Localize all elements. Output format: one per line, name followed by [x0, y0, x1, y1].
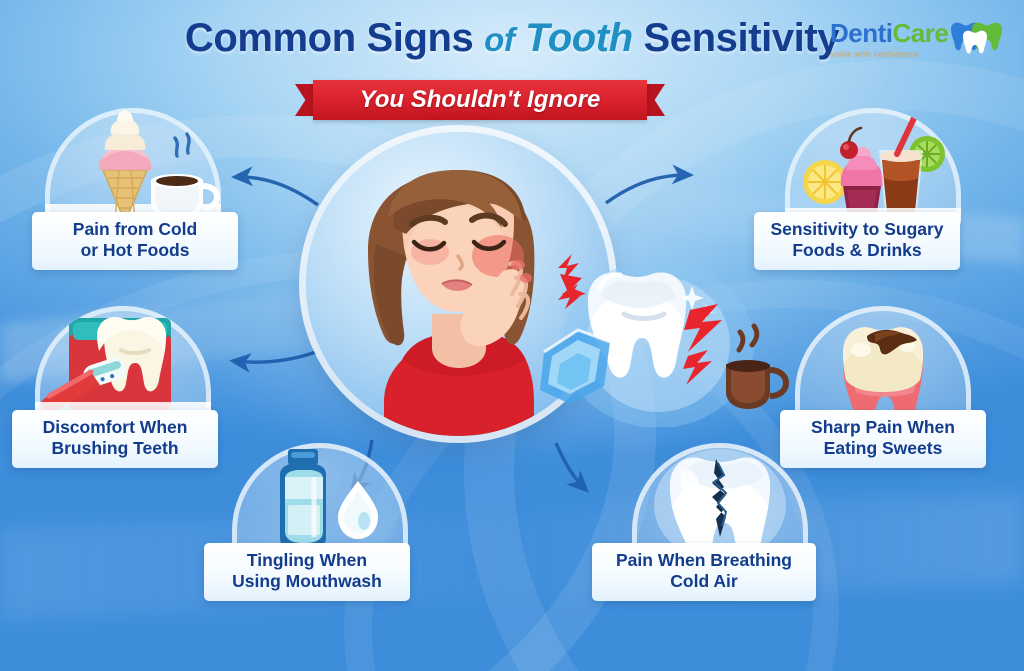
- logo-tagline: smile with confidence: [830, 50, 1006, 59]
- ribbon-label: You Shouldn't Ignore: [295, 80, 665, 120]
- title-part-2: of: [484, 21, 514, 58]
- brand-logo[interactable]: DentiCare smile with confidence: [830, 18, 1006, 70]
- arrow-to-cold-air: [556, 443, 586, 490]
- sign-label-line-1: Sharp Pain When: [788, 417, 978, 438]
- sign-label-card: Pain from Cold or Hot Foods: [32, 212, 238, 270]
- sign-label-card: Sensitivity to Sugary Foods & Drinks: [754, 212, 960, 270]
- title-part-3: Tooth: [525, 16, 633, 60]
- background-light-band: [0, 493, 1024, 619]
- sign-label-card: Sharp Pain When Eating Sweets: [780, 410, 986, 468]
- subtitle-ribbon: You Shouldn't Ignore: [295, 80, 665, 120]
- sign-label-card: Discomfort When Brushing Teeth: [12, 410, 218, 468]
- title-part-1: Common Signs: [185, 16, 474, 60]
- sign-label-line-1: Tingling When: [212, 550, 402, 571]
- sign-label-card: Tingling When Using Mouthwash: [204, 543, 410, 601]
- sign-label-line-2: Foods & Drinks: [762, 240, 952, 261]
- sign-label-line-1: Pain from Cold: [40, 219, 230, 240]
- sign-label-line-2: Eating Sweets: [788, 438, 978, 459]
- title-part-4: Sensitivity: [643, 16, 839, 60]
- sign-label-line-2: or Hot Foods: [40, 240, 230, 261]
- logo-name-part-2: Care: [893, 18, 949, 48]
- sign-label-card: Pain When Breathing Cold Air: [592, 543, 816, 601]
- sign-label-line-1: Pain When Breathing: [600, 550, 808, 571]
- sign-label-line-2: Cold Air: [600, 571, 808, 592]
- sign-label-line-2: Using Mouthwash: [212, 571, 402, 592]
- sign-label-line-1: Discomfort When: [20, 417, 210, 438]
- center-tooth-pain-group: [540, 252, 790, 427]
- logo-name-part-1: Denti: [830, 18, 893, 48]
- sign-label-line-2: Brushing Teeth: [20, 438, 210, 459]
- infographic-canvas: Common Signs of Tooth Sensitivity You Sh…: [0, 0, 1024, 671]
- sign-label-line-1: Sensitivity to Sugary: [762, 219, 952, 240]
